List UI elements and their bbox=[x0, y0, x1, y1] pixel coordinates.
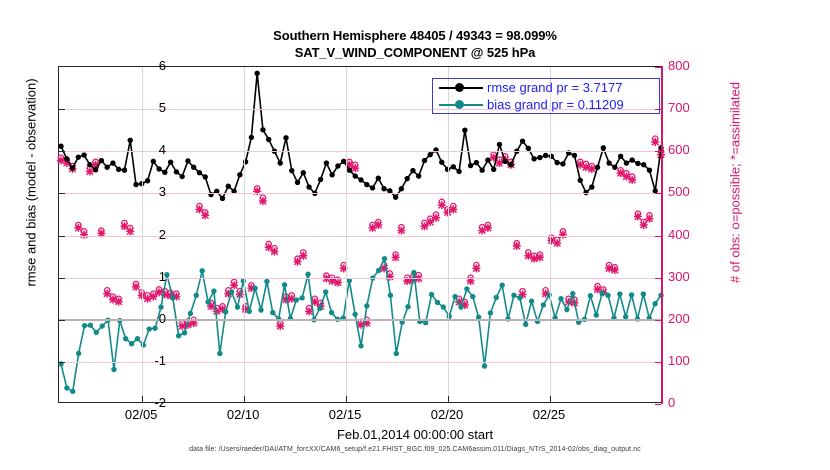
right-tick-label: 300 bbox=[668, 270, 714, 283]
left-tick-mark bbox=[59, 362, 65, 363]
right-tick-label: 200 bbox=[668, 312, 714, 325]
left-tick-label: 5 bbox=[126, 101, 166, 114]
left-tick-label: -1 bbox=[126, 354, 166, 367]
x-tick-label: 02/15 bbox=[310, 408, 380, 422]
left-tick-mark bbox=[59, 236, 65, 237]
legend-label-bias: bias grand pr = 0.11209 bbox=[487, 96, 624, 114]
legend-item-bias[interactable]: bias grand pr = 0.11209 bbox=[433, 96, 661, 114]
right-tick-mark bbox=[655, 404, 661, 405]
gridline-vertical bbox=[346, 67, 347, 402]
x-tick-mark bbox=[448, 396, 449, 402]
left-tick-label: 2 bbox=[126, 228, 166, 241]
x-tick-mark bbox=[244, 396, 245, 402]
x-tick-label: 02/25 bbox=[514, 408, 584, 422]
gridline-vertical bbox=[550, 67, 551, 402]
x-tick-label: 02/05 bbox=[106, 408, 176, 422]
legend-marker-rmse bbox=[455, 83, 464, 92]
data-file-footer: data file: /Users/raeder/DAI/ATM_forcXX/… bbox=[0, 446, 830, 453]
left-tick-mark bbox=[59, 193, 65, 194]
left-tick-label: 1 bbox=[126, 270, 166, 283]
right-tick-label: 100 bbox=[668, 354, 714, 367]
left-tick-mark bbox=[59, 278, 65, 279]
right-tick-label: 800 bbox=[668, 59, 714, 72]
right-axis-label: # of obs: o=possible; *=assimilated bbox=[728, 18, 743, 348]
x-tick-label: 02/10 bbox=[208, 408, 278, 422]
right-tick-label: 400 bbox=[668, 228, 714, 241]
gridline-vertical bbox=[244, 67, 245, 402]
right-tick-label: 500 bbox=[668, 185, 714, 198]
left-tick-label: 4 bbox=[126, 143, 166, 156]
left-tick-label: 0 bbox=[126, 312, 166, 325]
left-axis-label: rmse and bias (model - observation) bbox=[24, 33, 39, 333]
chart-root: Southern Hemisphere 48405 / 49343 = 98.0… bbox=[0, 0, 830, 470]
x-tick-mark bbox=[346, 396, 347, 402]
left-tick-mark bbox=[59, 151, 65, 152]
chart-title-block: Southern Hemisphere 48405 / 49343 = 98.0… bbox=[0, 27, 830, 61]
legend-marker-bias bbox=[455, 100, 464, 109]
left-tick-label: 6 bbox=[126, 59, 166, 72]
left-tick-mark bbox=[59, 109, 65, 110]
x-tick-mark bbox=[550, 396, 551, 402]
legend[interactable]: rmse grand pr = 3.7177 bias grand pr = 0… bbox=[432, 78, 660, 114]
right-tick-label: 600 bbox=[668, 143, 714, 156]
right-axis-spine bbox=[661, 66, 663, 404]
legend-item-rmse[interactable]: rmse grand pr = 3.7177 bbox=[433, 79, 661, 97]
gridline-vertical bbox=[448, 67, 449, 402]
left-tick-label: 3 bbox=[126, 185, 166, 198]
page-title: Southern Hemisphere 48405 / 49343 = 98.0… bbox=[0, 27, 830, 44]
x-tick-label: 02/20 bbox=[412, 408, 482, 422]
legend-label-rmse: rmse grand pr = 3.7177 bbox=[487, 79, 623, 97]
left-tick-mark bbox=[59, 320, 65, 321]
right-tick-label: 700 bbox=[668, 101, 714, 114]
right-tick-label: 0 bbox=[668, 396, 714, 409]
x-axis-label: Feb.01,2014 00:00:00 start bbox=[0, 427, 830, 442]
